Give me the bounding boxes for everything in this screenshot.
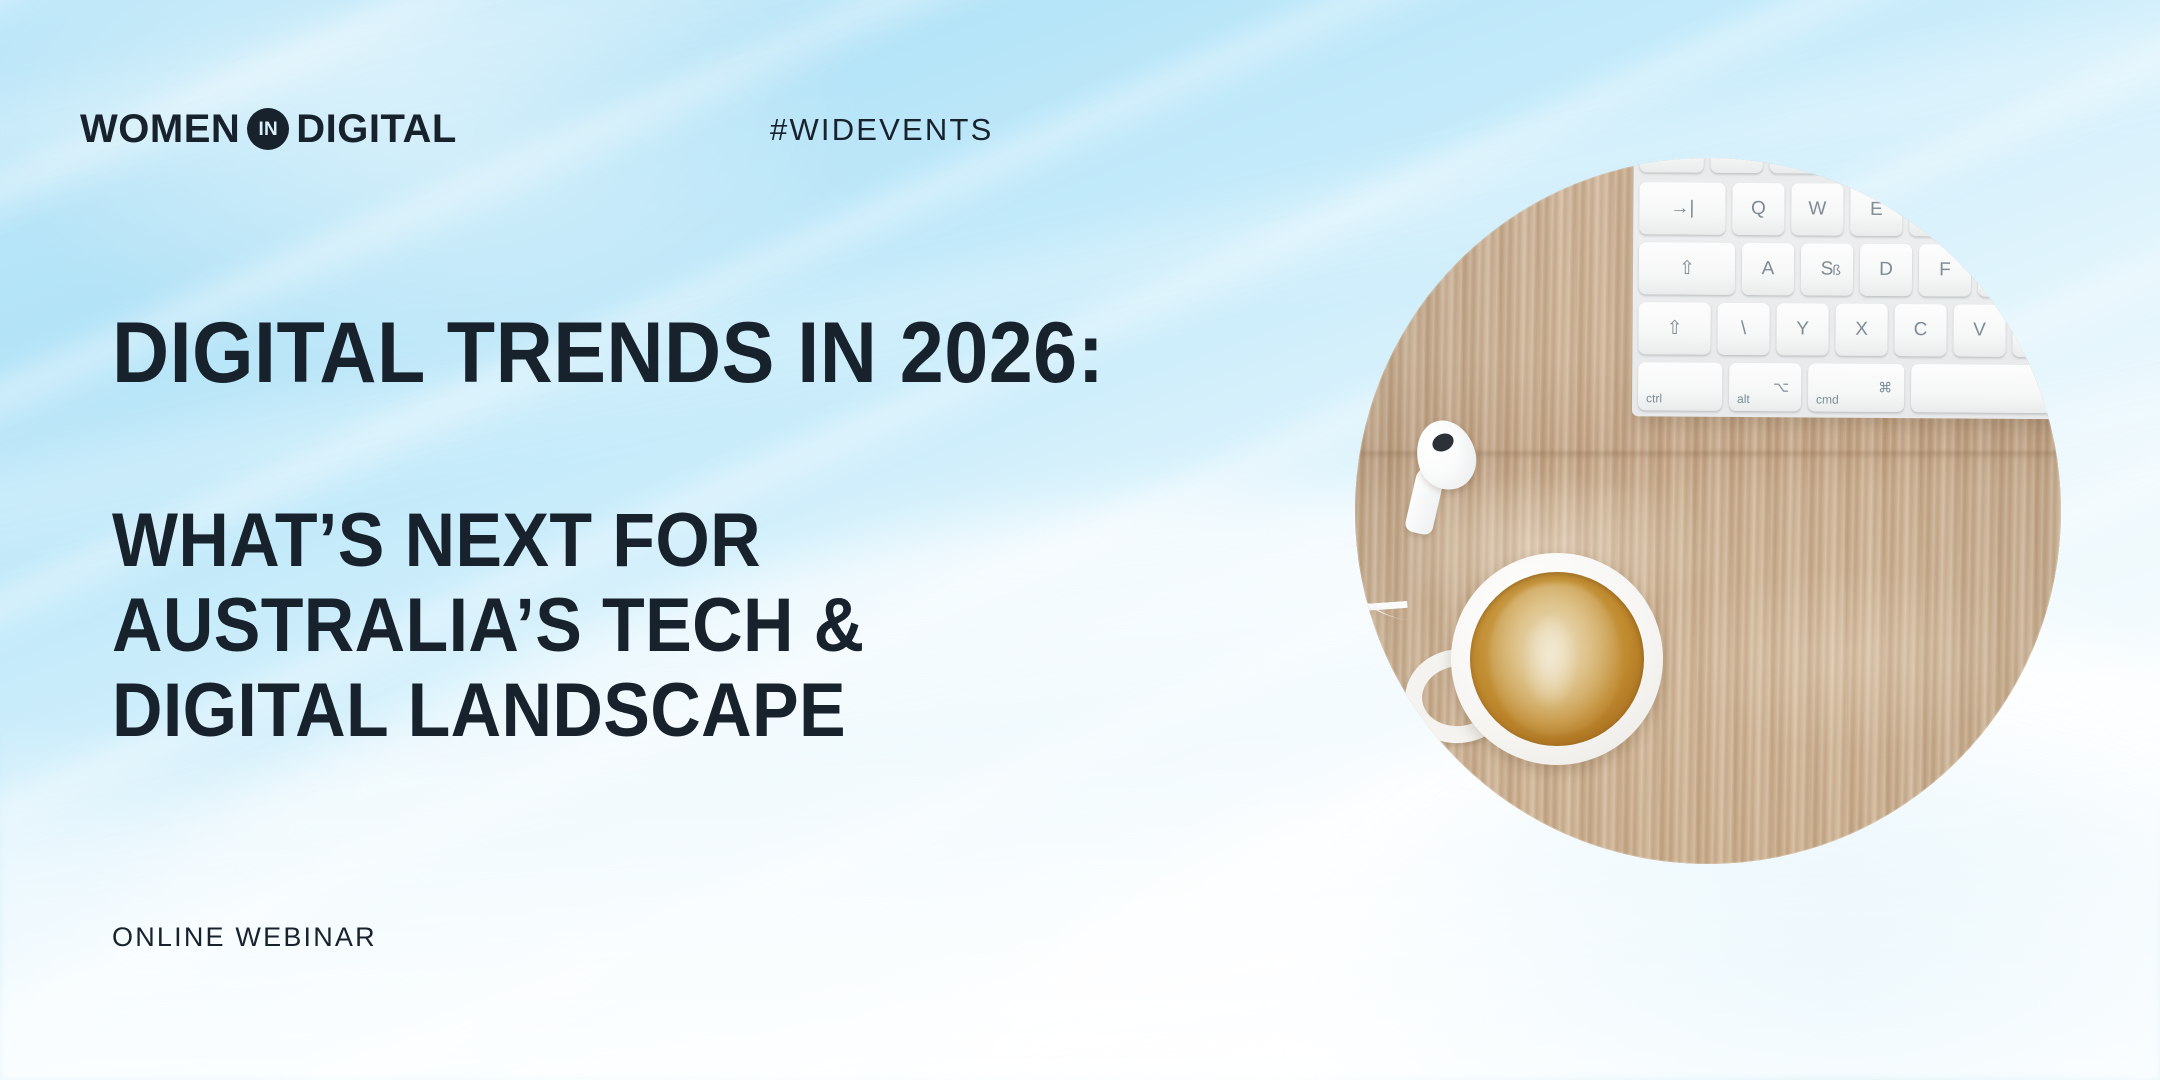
key-label: W	[1808, 198, 1826, 220]
key-label: T	[1989, 200, 2001, 222]
keyboard-key: Sß	[1801, 243, 1853, 295]
key-label: R	[1928, 199, 1942, 221]
keyboard-key	[1911, 364, 2061, 413]
webinar-promo-banner: WOMEN IN DIGITAL #WIDEVENTS DIGITAL TREN…	[0, 0, 2160, 1080]
keyboard-key: F	[1919, 244, 1971, 296]
keyboard-row: ><+~#'	[1640, 158, 1949, 174]
event-format-label: ONLINE WEBINAR	[112, 922, 377, 953]
keyboard-key: Q	[1732, 183, 1784, 235]
logo-badge-label: IN	[258, 120, 278, 139]
women-in-digital-logo[interactable]: WOMEN IN DIGITAL	[80, 108, 457, 150]
keyboard-key: C	[1894, 304, 1946, 356]
keyboard-row: ⇧ASßDFG	[1639, 242, 2030, 297]
key-label: E	[1870, 199, 1883, 221]
key-label: B	[2032, 320, 2045, 342]
key-label: cmd	[1816, 392, 1839, 406]
keyboard-key: G	[1978, 245, 2030, 297]
key-label: \	[1741, 318, 1746, 340]
keyboard-key: E	[1850, 184, 1902, 236]
keyboard-key: →|	[1639, 182, 1725, 235]
headline-block: DIGITAL TRENDS IN 2026:	[112, 310, 1262, 396]
keyboard-key: T	[1968, 185, 2020, 237]
keyboard-row: →|QWERT	[1639, 182, 2020, 237]
logo-word-digital: DIGITAL	[296, 109, 457, 149]
key-label: X	[1855, 319, 1868, 341]
logo-word-women: WOMEN	[80, 109, 240, 149]
keyboard-key: R	[1909, 184, 1961, 236]
key-label: +	[1731, 158, 1742, 159]
keyboard-key: ><	[1640, 158, 1704, 173]
key-label: C	[1914, 319, 1928, 341]
key-label: F	[1939, 259, 1951, 281]
subheadline-block: WHAT’S NEXT FOR AUSTRALIA’S TECH & DIGIT…	[112, 498, 1262, 753]
key-label: ctrl	[1646, 391, 1662, 405]
key-label: Q	[1751, 198, 1766, 220]
logo-in-badge-icon: IN	[247, 108, 289, 150]
keyboard-key: ⇧	[1638, 302, 1710, 355]
desk-photo-circle: ><+~#'→|QWERT⇧ASßDFG⇧\YXCVBctrlalt⌥cmd⌘	[1355, 158, 2061, 864]
keyboard-key: +~	[1711, 158, 1763, 173]
keyboard-key: alt⌥	[1729, 363, 1801, 412]
coffee-cup	[1451, 553, 1663, 765]
keyboard-key: cmd⌘	[1808, 363, 1904, 412]
key-label: A	[1762, 258, 1775, 280]
subheadline-line-2: AUSTRALIA’S TECH &	[112, 583, 1170, 668]
keyboard-key: V	[1953, 304, 2005, 356]
key-label: alt	[1737, 392, 1750, 406]
key-label: ⇧	[1679, 257, 1695, 280]
keyboard-key: ctrl	[1638, 362, 1722, 411]
coffee-crema-highlight	[1523, 617, 1578, 710]
keyboard-key: A	[1742, 243, 1794, 295]
key-label: V	[1973, 320, 1986, 342]
subheadline-line-3: DIGITAL LANDSCAPE	[112, 668, 1170, 753]
key-sublabel: ⌘	[1878, 379, 1892, 396]
keyboard-row: ctrlalt⌥cmd⌘	[1638, 362, 2061, 413]
page-title: DIGITAL TRENDS IN 2026:	[112, 310, 1170, 396]
keyboard-key: #'	[1770, 158, 1822, 173]
key-sublabel: ⌥	[1773, 379, 1789, 396]
subheadline-line-1: WHAT’S NEXT FOR	[112, 498, 1170, 583]
event-hashtag: #WIDEVENTS	[770, 112, 994, 148]
apple-keyboard: ><+~#'→|QWERT⇧ASßDFG⇧\YXCVBctrlalt⌥cmd⌘	[1632, 158, 2061, 420]
desk-grain-highlight-2	[1680, 575, 1991, 759]
key-label: Y	[1796, 318, 1809, 340]
keyboard-key: W	[1791, 183, 1843, 235]
key-sublabel: ß	[1832, 262, 1841, 278]
keyboard-key: Y	[1776, 303, 1828, 355]
keyboard-row: ⇧\YXCVB	[1638, 302, 2061, 357]
keyboard-key: D	[1860, 244, 1912, 296]
keyboard-key: \	[1717, 303, 1769, 355]
key-label: D	[1879, 259, 1893, 281]
keyboard-key: ⇧	[1639, 242, 1735, 295]
key-label: →|	[1670, 197, 1694, 219]
key-label: G	[1997, 260, 2012, 282]
keyboard-key: B	[2012, 305, 2061, 357]
keyboard-key	[1829, 158, 1949, 174]
key-label: ⇧	[1667, 317, 1683, 340]
key-label: #	[1790, 158, 1801, 159]
keyboard-key: X	[1835, 304, 1887, 356]
